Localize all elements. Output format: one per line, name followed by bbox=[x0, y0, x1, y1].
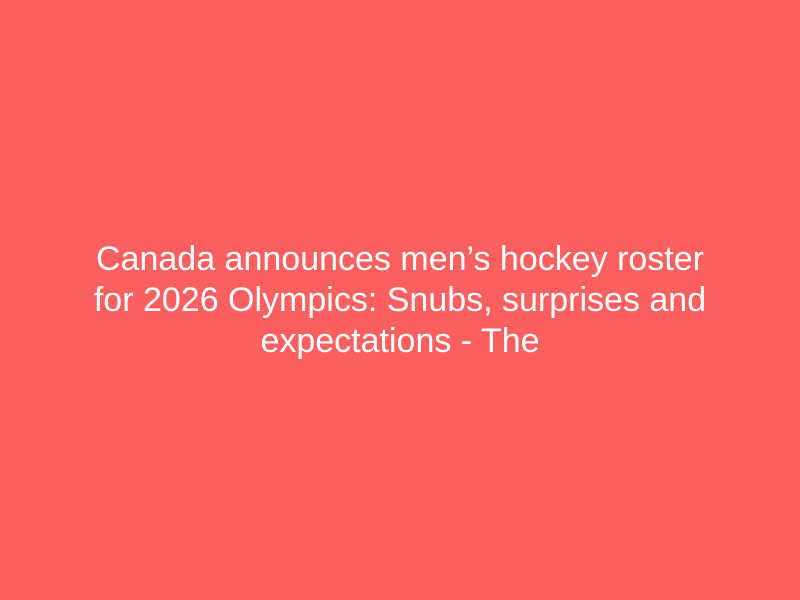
headline-text: Canada announces men’s hockey roster for… bbox=[76, 239, 724, 362]
headline-block: Canada announces men’s hockey roster for… bbox=[76, 239, 724, 362]
headline-card: Canada announces men’s hockey roster for… bbox=[0, 0, 800, 600]
